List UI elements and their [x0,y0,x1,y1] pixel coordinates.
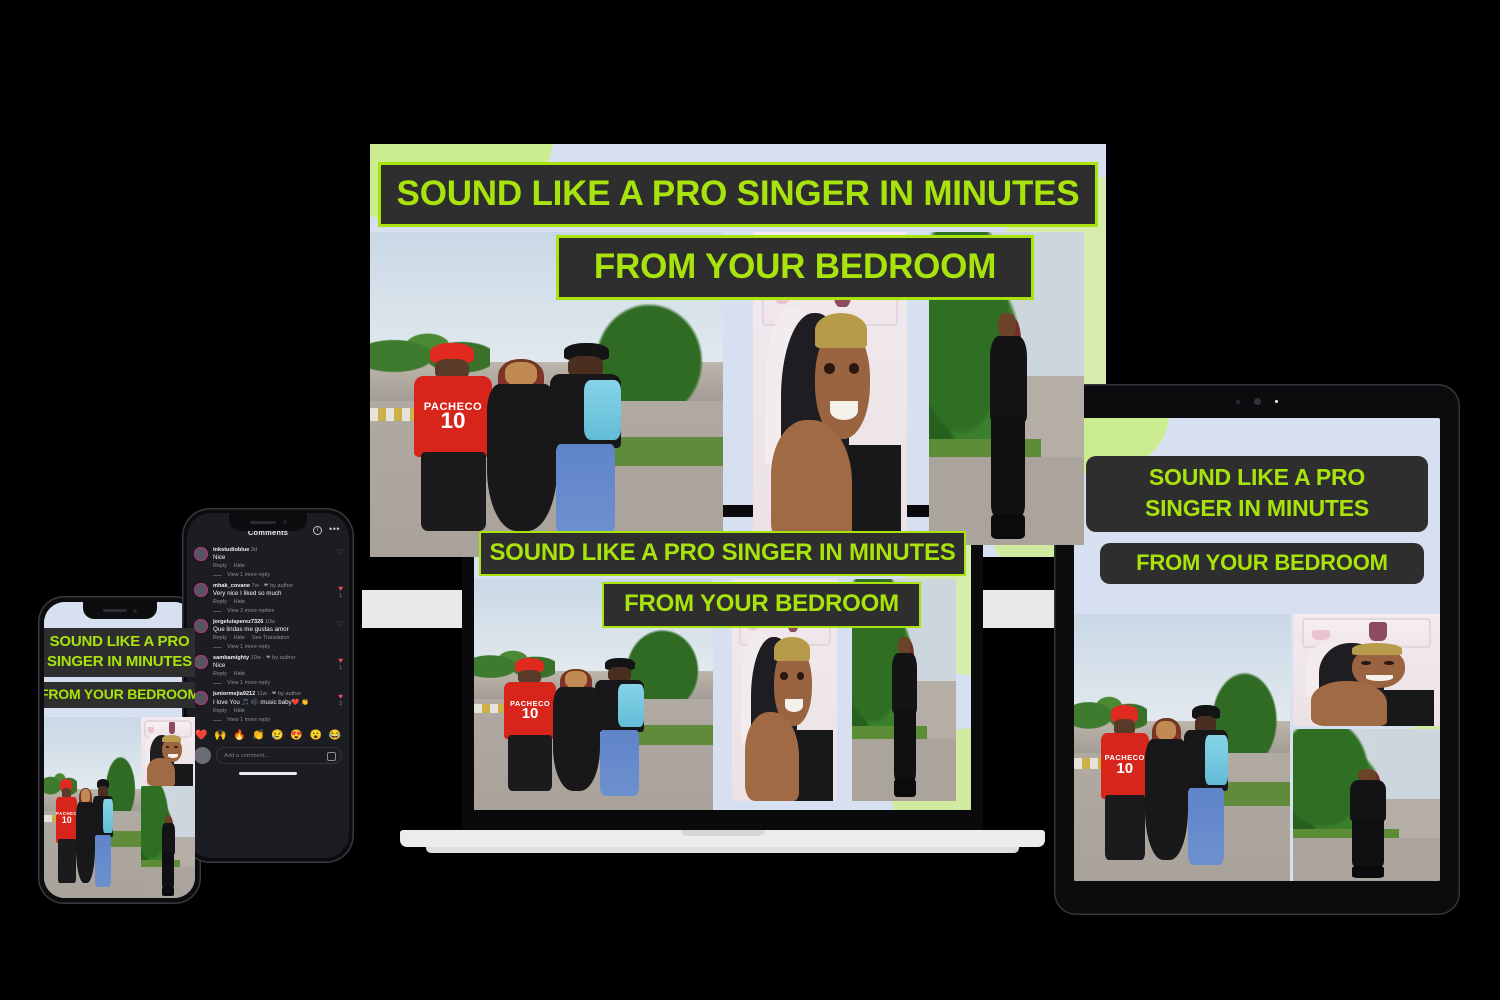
photo-collage: PACHECO 10 [44,717,195,898]
comment-time: 10w [251,655,261,661]
tablet-camera-group [1236,398,1278,405]
comment-item[interactable]: sambamighty 10w · ❤ by author Nice Reply… [187,652,349,677]
landing-page-phone: PACHECO 10 [44,602,195,898]
instagram-comments-screen[interactable]: Comments i ••• inkstudioblue 3d Nice Rep… [187,513,349,858]
headline-line-1: SOUND LIKE A PRO [44,634,195,650]
phone-device-instagram: Comments i ••• inkstudioblue 3d Nice Rep… [182,508,354,863]
photo-portrait-pointing [141,717,195,786]
comment-time: 11w [257,691,267,697]
comment-item[interactable]: jorgeluisperez7326 10w Que lindas me gus… [187,616,349,641]
comment-username[interactable]: juniormejia9212 [213,691,255,697]
comment-text: Que lindas me gustas amor [213,626,342,633]
home-indicator [239,772,297,775]
avatar[interactable] [194,691,208,705]
view-more-replies[interactable]: View 1 more reply [187,569,349,580]
emoji-heart[interactable]: ❤️ [195,730,207,741]
monitor-bezel: PACHECO 10 [362,138,1114,563]
avatar[interactable] [194,583,208,597]
device-mockup-scene: PACHECO 10 [0,0,1500,1000]
landing-page-laptop: PACHECO 10 [474,517,971,810]
headline-line-1: SOUND LIKE A PRO [1094,465,1420,489]
headline-line-2: SINGER IN MINUTES [1094,496,1420,520]
photo-street-scene: PACHECO 10 [44,717,141,898]
laptop-foot [426,847,1019,853]
heart-filled-icon[interactable]: ♥ [338,585,343,593]
photo-collage: PACHECO 10 [1074,614,1440,881]
avatar[interactable] [194,619,208,633]
earpiece-speaker-icon [103,609,127,612]
headline-line-1: SOUND LIKE A PRO SINGER IN MINUTES [479,531,966,576]
comment-input-placeholder: Add a comment... [224,753,269,759]
emoji-fire[interactable]: 🔥 [233,730,245,741]
comment-input-row[interactable]: Add a comment... [187,745,349,770]
headline-line-1: SOUND LIKE A PRO SINGER IN MINUTES [378,162,1098,227]
headline-group-laptop: SOUND LIKE A PRO SINGER IN MINUTES FROM … [474,517,971,628]
headline-line-2: FROM YOUR BEDROOM [556,235,1034,300]
headline-line-2: FROM YOUR BEDROOM [602,582,921,627]
comment-username[interactable]: mhak_covane [213,583,250,589]
tablet-device: PACHECO 10 [1054,384,1460,915]
emoji-heart-eyes[interactable]: 😍 [290,730,302,741]
jersey-number: 10 [56,816,77,825]
heart-filled-icon[interactable]: ♥ [338,693,343,701]
comment-text: I love You 🎵 🎼 music baby❤️ 👏 [213,698,342,706]
emoji-laugh-cry[interactable]: 😂 [329,730,341,741]
comments-list[interactable]: inkstudioblue 3d Nice Reply Hide ♡ [187,541,349,725]
avatar[interactable] [194,547,208,561]
current-user-avatar [194,747,211,764]
heart-icon[interactable]: ♡ [336,549,343,557]
tablet-camera-icon [1254,398,1261,405]
comment-author-badge: · ❤ by author [260,583,293,589]
comment-text: Nice [213,554,342,561]
comment-time: 10w [265,619,275,625]
photo-walking-street [1293,729,1440,881]
comment-time: 7w [252,583,259,589]
front-camera-icon [133,609,137,613]
jersey-number: 10 [504,706,557,721]
comment-author-badge: · ❤ by author [268,691,301,697]
comment-item[interactable]: inkstudioblue 3d Nice Reply Hide ♡ [187,544,349,569]
like-control[interactable]: ♡ [336,621,343,629]
tablet-screen[interactable]: PACHECO 10 [1074,418,1440,881]
like-count: 1 [338,665,343,671]
more-options-icon[interactable]: ••• [329,524,340,534]
like-control[interactable]: ♥ 1 [338,657,343,671]
info-icon[interactable]: i [313,526,322,535]
view-more-replies[interactable]: View 1 more reply [187,714,349,725]
heart-icon[interactable]: ♡ [336,621,343,629]
heart-filled-icon[interactable]: ♥ [338,657,343,665]
headline-group-desktop: SOUND LIKE A PRO SINGER IN MINUTES FROM … [370,144,1106,300]
laptop-base-notch [681,830,765,836]
comment-text: Very nice I liked so much [213,590,342,597]
comment-text: Nice [213,662,342,669]
comment-time: 3d [251,547,257,553]
photo-portrait-pointing [1293,614,1440,726]
headline-box-phone-top: SOUND LIKE A PRO SINGER IN MINUTES [44,628,195,677]
photo-walking-street [141,786,195,898]
like-count: 1 [338,593,343,599]
avatar[interactable] [194,655,208,669]
headline-box-tablet-top: SOUND LIKE A PRO SINGER IN MINUTES [1086,456,1428,532]
headline-group-tablet: SOUND LIKE A PRO SINGER IN MINUTES FROM … [1074,418,1440,584]
view-more-replies[interactable]: View 1 more reply [187,641,349,652]
phone-notch [83,602,157,619]
comment-item[interactable]: mhak_covane 7w · ❤ by author Very nice I… [187,580,349,605]
comment-author-badge: · ❤ by author [262,655,295,661]
comment-username[interactable]: inkstudioblue [213,547,249,553]
emoji-cry[interactable]: 😢 [271,730,283,741]
photo-street-scene: PACHECO 10 [1074,614,1290,881]
headline-line-3: FROM YOUR BEDROOM [1100,543,1424,584]
front-camera-icon [283,520,287,524]
tablet-indicator-icon [1275,400,1278,403]
comment-username[interactable]: jorgeluisperez7326 [213,619,263,625]
comment-username[interactable]: sambamighty [213,655,249,661]
earpiece-speaker-icon [250,521,276,524]
quick-emoji-bar[interactable]: ❤️ 🙌 🔥 👏 😢 😍 😮 😂 [187,725,349,745]
tablet-sensor-icon [1236,400,1240,404]
comment-input[interactable]: Add a comment... [216,747,342,764]
emoji-raised-hands[interactable]: 🙌 [214,730,226,741]
landing-page-desktop: PACHECO 10 [370,144,1106,557]
view-more-replies[interactable]: View 1 more reply [187,677,349,688]
laptop-screen[interactable]: PACHECO 10 [474,517,971,810]
phone-device-left: PACHECO 10 [38,596,201,904]
phone-notch [229,513,307,531]
comment-item[interactable]: juniormejia9212 11w · ❤ by author I love… [187,688,349,714]
sticker-icon[interactable] [327,752,336,761]
like-control[interactable]: ♥ 1 [338,585,343,599]
emoji-clap[interactable]: 👏 [252,730,264,741]
landing-page-tablet: PACHECO 10 [1074,418,1440,881]
like-control[interactable]: ♥ 3 [338,693,343,707]
like-count: 3 [338,701,343,707]
headline-line-3: FROM YOUR BEDROOM [44,682,195,708]
view-more-replies[interactable]: View 2 more replies [187,605,349,616]
phone-left-screen[interactable]: PACHECO 10 [44,602,195,898]
jersey-number: 10 [1101,761,1149,776]
headline-line-2: SINGER IN MINUTES [44,654,195,670]
emoji-surprised[interactable]: 😮 [309,730,321,741]
monitor-screen[interactable]: PACHECO 10 [370,144,1106,557]
like-control[interactable]: ♡ [336,549,343,557]
laptop-device: PACHECO 10 [400,505,1045,865]
jersey-number: 10 [414,410,492,433]
